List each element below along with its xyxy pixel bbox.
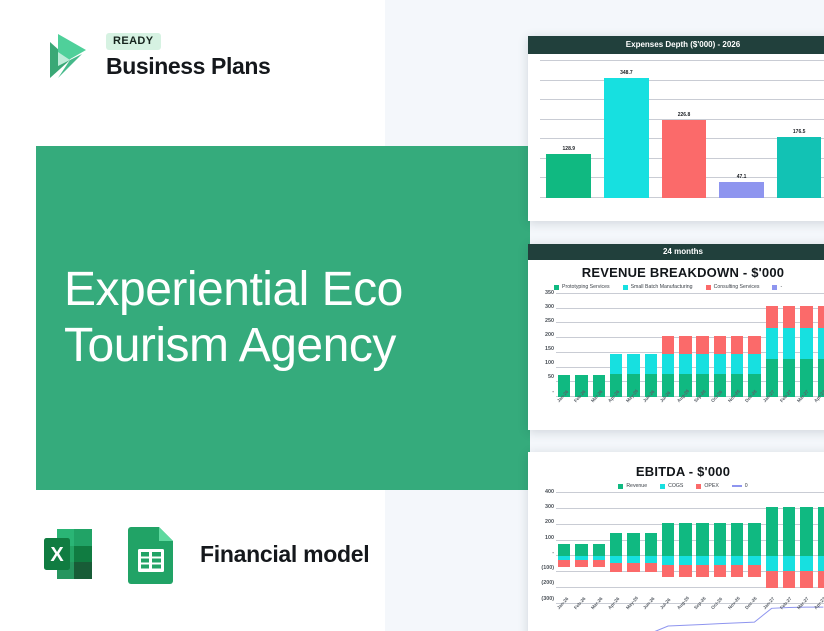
legend-swatch [706, 285, 711, 290]
stacked-bar-column [746, 492, 762, 604]
stacked-bar-column [816, 492, 824, 604]
legend-label: OPEX [704, 483, 718, 489]
stacked-bar-column [798, 293, 814, 397]
legend-label: Prototyping Services [562, 284, 610, 290]
stack-segment [575, 560, 587, 567]
stack-segment [800, 556, 812, 571]
stack-segment [731, 354, 743, 374]
stack-segment [818, 556, 824, 571]
stack-segment [696, 523, 708, 556]
stack-segment [610, 563, 622, 572]
bar-column: 226.8 [662, 60, 707, 198]
stack-segment [696, 556, 708, 565]
play-triangle-logo-icon [36, 28, 92, 84]
bar-value-label: 128.9 [563, 146, 576, 152]
stack-segment [575, 544, 587, 556]
bar-value-label: 47.1 [737, 174, 747, 180]
legend-label: 0 [745, 483, 748, 489]
stacked-bar-column [677, 492, 693, 604]
axis-tick-label: - [552, 551, 554, 556]
stack-segment [679, 354, 691, 374]
stacked-bar-column [764, 293, 780, 397]
legend-item: Prototyping Services [554, 284, 610, 290]
chart-card-ebitda: EBITDA - $'000 RevenueCOGSOPEX0 40030020… [528, 452, 824, 631]
stack-segment [783, 507, 795, 556]
ebitda-x-axis: Jan-26Feb-26Mar-26Apr-26May-26Jun-26Jul-… [556, 604, 824, 630]
stacked-bar-column [712, 492, 728, 604]
stack-segment [714, 336, 726, 354]
legend-label: Revenue [626, 483, 647, 489]
stacked-bar-column [712, 293, 728, 397]
page-title: Experiential Eco Tourism Agency [36, 262, 431, 373]
stacked-bar-column [643, 492, 659, 604]
stacked-bar-column [695, 492, 711, 604]
legend-item: OPEX [696, 483, 718, 489]
stacked-bar-column [608, 492, 624, 604]
revenue-chart-header: 24 months [528, 244, 824, 260]
stack-segment [783, 556, 795, 571]
axis-tick-label: 350 [545, 291, 554, 296]
stacked-bar-column [573, 293, 589, 397]
stack-segment [593, 560, 605, 567]
stack-segment [800, 306, 812, 327]
chart-card-expenses: Expenses Depth ($'000) - 2026 128.9348.7… [528, 36, 824, 221]
footer-label: Financial model [200, 541, 369, 568]
stack-segment [696, 565, 708, 577]
stack-segment [679, 565, 691, 577]
bar-column: 47.1 [719, 60, 764, 198]
chart-card-revenue: 24 months REVENUE BREAKDOWN - $'000 Prot… [528, 244, 824, 430]
ebitda-plot-area [556, 492, 824, 604]
stack-segment [766, 507, 778, 556]
stack-segment [679, 523, 691, 556]
stack-segment [610, 354, 622, 374]
stacked-bar-column [781, 293, 797, 397]
stacked-bar-column [660, 293, 676, 397]
stack-segment [645, 533, 657, 556]
axis-tick-label: 50 [548, 375, 554, 380]
brand-lockup: READY Business Plans [36, 28, 270, 84]
stack-segment [627, 533, 639, 556]
bar-value-label: 176.5 [793, 129, 806, 135]
hero-title-panel: Experiential Eco Tourism Agency [36, 146, 530, 490]
legend-item: Small Batch Manufacturing [623, 284, 693, 290]
stacked-bar-column [573, 492, 589, 604]
expenses-chart-header: Expenses Depth ($'000) - 2026 [528, 36, 824, 54]
stack-segment [714, 354, 726, 374]
excel-file-icon: X [36, 521, 102, 587]
revenue-bars [556, 293, 824, 397]
stack-segment [558, 560, 570, 567]
stack-segment [662, 354, 674, 374]
stack-segment [558, 544, 570, 556]
bar-value-label: 226.8 [678, 112, 691, 118]
stacked-bar-column [677, 293, 693, 397]
stacked-bar-column [625, 293, 641, 397]
bar [777, 137, 822, 198]
stack-segment [593, 544, 605, 556]
bar [604, 78, 649, 198]
stack-segment [627, 556, 639, 563]
stack-segment [800, 328, 812, 359]
legend-item: 0 [732, 483, 748, 489]
legend-swatch [696, 484, 701, 489]
legend-item: Revenue [618, 483, 647, 489]
axis-tick-label: 300 [545, 305, 554, 310]
axis-tick-label: 250 [545, 319, 554, 324]
axis-tick-label: 100 [545, 536, 554, 541]
stack-segment [679, 556, 691, 565]
stacked-bar-column [781, 492, 797, 604]
stacked-bar-column [608, 293, 624, 397]
axis-tick-label: - [552, 390, 554, 395]
stack-segment [662, 523, 674, 556]
stack-segment [662, 556, 674, 565]
legend-label: Small Batch Manufacturing [631, 284, 693, 290]
stack-segment [610, 556, 622, 563]
legend-item: Consulting Services [706, 284, 760, 290]
expenses-bars: 128.9348.7226.847.1176.5 [540, 60, 824, 198]
axis-tick-label: 300 [545, 505, 554, 510]
stack-segment [696, 336, 708, 354]
revenue-plot-area [556, 293, 824, 397]
stack-segment [800, 571, 812, 588]
axis-tick-label: 400 [545, 490, 554, 495]
legend-item: - [772, 284, 782, 290]
stack-segment [748, 336, 760, 354]
stacked-bar-column [556, 492, 572, 604]
bar [719, 182, 764, 198]
stack-segment [783, 571, 795, 588]
stack-segment [610, 533, 622, 556]
ebitda-bars [556, 492, 824, 604]
stacked-bar-column [643, 293, 659, 397]
legend-swatch [623, 285, 628, 290]
stacked-bar-column [816, 293, 824, 397]
stack-segment [731, 565, 743, 577]
stack-segment [748, 523, 760, 556]
stack-segment [714, 523, 726, 556]
stack-segment [800, 507, 812, 556]
stacked-bar-column [556, 293, 572, 397]
stack-segment [818, 571, 824, 588]
stack-segment [645, 563, 657, 572]
stack-segment [731, 336, 743, 354]
stack-segment [783, 306, 795, 327]
stacked-bar-column [729, 293, 745, 397]
stack-segment [645, 354, 657, 374]
legend-swatch [732, 485, 742, 487]
stack-segment [731, 523, 743, 556]
stack-segment [766, 328, 778, 359]
google-sheets-file-icon [118, 521, 184, 587]
axis-tick-label: 150 [545, 347, 554, 352]
axis-tick-label: (100) [541, 566, 554, 571]
bar-column: 348.7 [604, 60, 649, 198]
legend-label: COGS [668, 483, 683, 489]
stacked-bar-column [660, 492, 676, 604]
axis-tick-label: 200 [545, 520, 554, 525]
legend-label: - [780, 284, 782, 290]
revenue-y-axis: 35030025020015010050- [534, 293, 554, 397]
bar-column: 128.9 [546, 60, 591, 198]
stack-segment [731, 556, 743, 565]
stacked-bar-column [798, 492, 814, 604]
stacked-bar-column [764, 492, 780, 604]
revenue-x-axis: Jan-26Feb-26Mar-26Apr-26May-26Jun-26Jul-… [556, 397, 824, 423]
stack-segment [645, 556, 657, 563]
stack-segment [766, 571, 778, 588]
stacked-bar-column [625, 492, 641, 604]
stack-segment [766, 556, 778, 571]
expenses-plot-area: 128.9348.7226.847.1176.5 [540, 60, 824, 198]
ebitda-y-axis: 400300200100-(100)(200)(300) [534, 492, 554, 604]
legend-swatch [660, 484, 665, 489]
stacked-bar-column [695, 293, 711, 397]
legend-label: Consulting Services [714, 284, 760, 290]
stack-segment [818, 328, 824, 359]
footer-file-formats: X Financial model [36, 521, 369, 587]
axis-tick-label: 100 [545, 361, 554, 366]
brand-name: Business Plans [106, 53, 270, 80]
svg-text:X: X [50, 544, 64, 566]
legend-swatch [772, 285, 777, 290]
stack-segment [627, 354, 639, 374]
stacked-bar-column [591, 492, 607, 604]
stacked-bar-column [729, 492, 745, 604]
stack-segment [748, 565, 760, 577]
stack-segment [714, 565, 726, 577]
legend-item: COGS [660, 483, 683, 489]
stack-segment [627, 563, 639, 572]
stack-segment [818, 306, 824, 327]
stack-segment [818, 507, 824, 556]
axis-tick-label: 200 [545, 333, 554, 338]
axis-tick-label: (300) [541, 597, 554, 602]
revenue-chart-title: REVENUE BREAKDOWN - $'000 [528, 260, 824, 282]
bar [662, 120, 707, 198]
stacked-bar-column [591, 293, 607, 397]
stack-segment [783, 328, 795, 359]
stack-segment [766, 306, 778, 327]
axis-tick-label: (200) [541, 581, 554, 586]
stacked-bar-column [746, 293, 762, 397]
stack-segment [696, 354, 708, 374]
revenue-legend: Prototyping ServicesSmall Batch Manufact… [528, 282, 824, 293]
ebitda-chart-title: EBITDA - $'000 [528, 452, 824, 481]
stack-segment [714, 556, 726, 565]
legend-swatch [554, 285, 559, 290]
bar [546, 154, 591, 198]
legend-swatch [618, 484, 623, 489]
ready-badge: READY [106, 33, 161, 50]
stack-segment [662, 565, 674, 577]
stack-segment [662, 336, 674, 354]
stack-segment [748, 556, 760, 565]
stack-segment [679, 336, 691, 354]
ebitda-legend: RevenueCOGSOPEX0 [528, 481, 824, 492]
bar-column: 176.5 [777, 60, 822, 198]
bar-value-label: 348.7 [620, 70, 633, 76]
stack-segment [748, 354, 760, 374]
